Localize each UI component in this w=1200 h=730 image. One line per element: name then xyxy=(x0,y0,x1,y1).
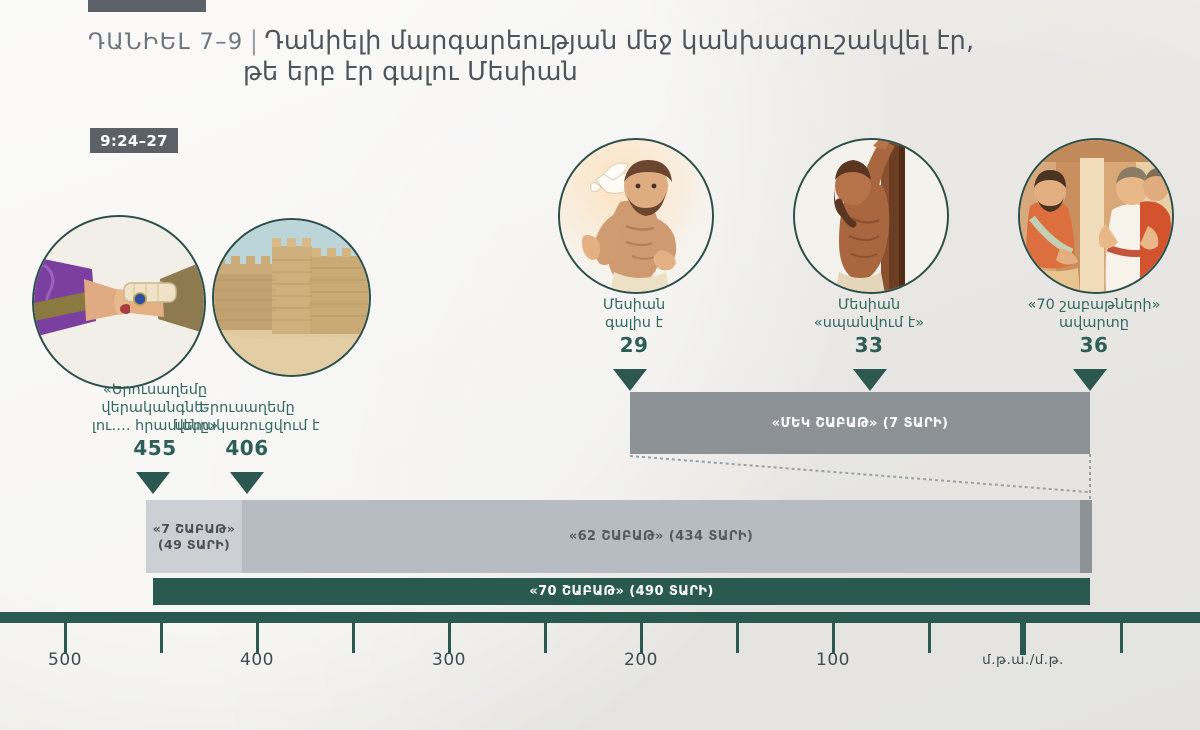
bar-seven-weeks: «7 ՇԱԲԱԹ» (49 ՏԱՐԻ) xyxy=(146,500,242,573)
axis-tick-150 xyxy=(736,623,739,653)
event-text-line2: գալիս է xyxy=(605,315,663,331)
title-line-1: ԴԱՆԻԵԼ 7–9|Դանիելի մարգարեության մեջ կան… xyxy=(88,26,1088,57)
timeline-axis-bar xyxy=(0,612,1200,623)
event-label-messiah-arrives: Մեսիան գալիս է 29 xyxy=(559,296,709,354)
city-walls-icon xyxy=(212,218,371,377)
axis-label-era: մ.թ.ա./մ.թ. xyxy=(963,652,1083,668)
cornelius-meeting-icon xyxy=(1018,138,1174,294)
event-text-line2: ավարտը xyxy=(1059,315,1129,331)
event-year: 36 xyxy=(1005,336,1183,354)
arrow-marker-29 xyxy=(613,369,647,391)
verse-badge: 9:24–27 xyxy=(90,128,178,153)
axis-label-500: 500 xyxy=(25,650,105,670)
arrow-marker-455 xyxy=(136,472,170,494)
bar-seventy-weeks: «70 ՇԱԲԱԹ» (490 ՏԱՐԻ) xyxy=(153,578,1090,605)
event-text-line2: վերակառուցվում է xyxy=(174,418,319,434)
torture-stake-icon xyxy=(793,138,949,294)
title-separator: | xyxy=(244,26,265,56)
bar-seven-weeks-line1: «7 ՇԱԲԱԹ» xyxy=(153,521,235,537)
arrow-marker-36 xyxy=(1073,369,1107,391)
event-text-line1: «70 շաբաթների» xyxy=(1028,297,1161,313)
event-text-line1: Մեսիան xyxy=(838,297,900,313)
axis-tick-300 xyxy=(448,623,451,653)
baptism-dove-icon xyxy=(558,138,714,294)
axis-label-100: 100 xyxy=(793,650,873,670)
title-text-1: Դանիելի մարգարեության մեջ կանխագուշակվել… xyxy=(264,26,974,56)
title-line-2: թե երբ էր գալու Մեսիան xyxy=(88,57,1088,87)
axis-label-300: 300 xyxy=(409,650,489,670)
bar-sixtytwo-weeks: «62 ՇԱԲԱԹ» (434 ՏԱՐԻ) xyxy=(242,500,1080,573)
event-year: 29 xyxy=(559,336,709,354)
event-year: 33 xyxy=(794,336,944,354)
event-label-messiah-cut-off: Մեսիան «սպանվում է» 33 xyxy=(794,296,944,354)
axis-tick-500 xyxy=(64,623,67,653)
event-label-end-of-seventy-weeks: «70 շաբաթների» ավարտը 36 xyxy=(1005,296,1183,354)
axis-tick-100 xyxy=(832,623,835,653)
bar-final-week-segment xyxy=(1080,500,1092,573)
axis-label-400: 400 xyxy=(217,650,297,670)
axis-tick-50ce xyxy=(1120,623,1123,653)
hands-passing-scroll-icon xyxy=(32,215,206,389)
axis-tick-475 xyxy=(160,623,163,653)
event-text-line1: Մեսիան xyxy=(603,297,665,313)
event-text-line2: «սպանվում է» xyxy=(814,315,924,331)
arrow-marker-406 xyxy=(230,472,264,494)
event-text-line1: Երուսաղեմը xyxy=(199,400,294,416)
arrow-marker-33 xyxy=(853,369,887,391)
scripture-reference: ԴԱՆԻԵԼ 7–9 xyxy=(88,29,244,55)
axis-tick-350 xyxy=(352,623,355,653)
title-block: ԴԱՆԻԵԼ 7–9|Դանիելի մարգարեության մեջ կան… xyxy=(88,26,1088,87)
bar-one-week: «ՄԵԿ ՇԱԲԱԹ» (7 ՏԱՐԻ) xyxy=(630,392,1090,454)
bar-seven-weeks-line2: (49 ՏԱՐԻ) xyxy=(153,537,235,553)
axis-tick-era-divider xyxy=(1020,623,1026,655)
axis-tick-50 xyxy=(928,623,931,653)
event-text-line1: «Երուսաղեմը xyxy=(103,382,207,398)
axis-tick-200 xyxy=(640,623,643,653)
axis-tick-250 xyxy=(544,623,547,653)
event-label-jerusalem-rebuilt: Երուսաղեմը վերակառուցվում է 406 xyxy=(172,399,322,457)
axis-tick-400 xyxy=(256,623,259,653)
header-accent-bar xyxy=(88,0,206,12)
event-year: 406 xyxy=(172,439,322,457)
axis-label-200: 200 xyxy=(601,650,681,670)
